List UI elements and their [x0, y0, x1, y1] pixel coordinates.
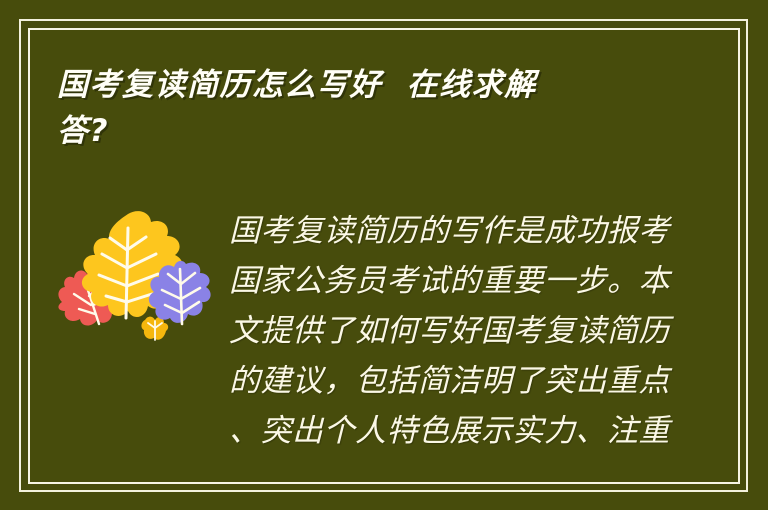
- body-line-4: 的建议，包括简洁明了突出重点: [229, 356, 653, 406]
- autumn-leaves-illustration: [52, 206, 218, 356]
- body-line-1: 国考复读简历的写作是成功报考: [229, 206, 653, 256]
- poster-canvas: 国考复读简历怎么写好 在线求解 答?: [0, 0, 768, 510]
- page-title-line-1: 国考复读简历怎么写好 在线求解: [57, 62, 677, 108]
- small-yellow-leaf-icon: [141, 317, 168, 340]
- body-line-3: 文提供了如何写好国考复读简历: [229, 306, 653, 356]
- page-title-line-2: 答?: [57, 108, 677, 154]
- body-paragraph: 国考复读简历的写作是成功报考 国家公务员考试的重要一步。本 文提供了如何写好国考…: [229, 206, 653, 456]
- body-line-2: 国家公务员考试的重要一步。本: [229, 256, 653, 306]
- body-line-5: 、突出个人特色展示实力、注重: [229, 406, 653, 456]
- page-title: 国考复读简历怎么写好 在线求解 答?: [57, 62, 677, 154]
